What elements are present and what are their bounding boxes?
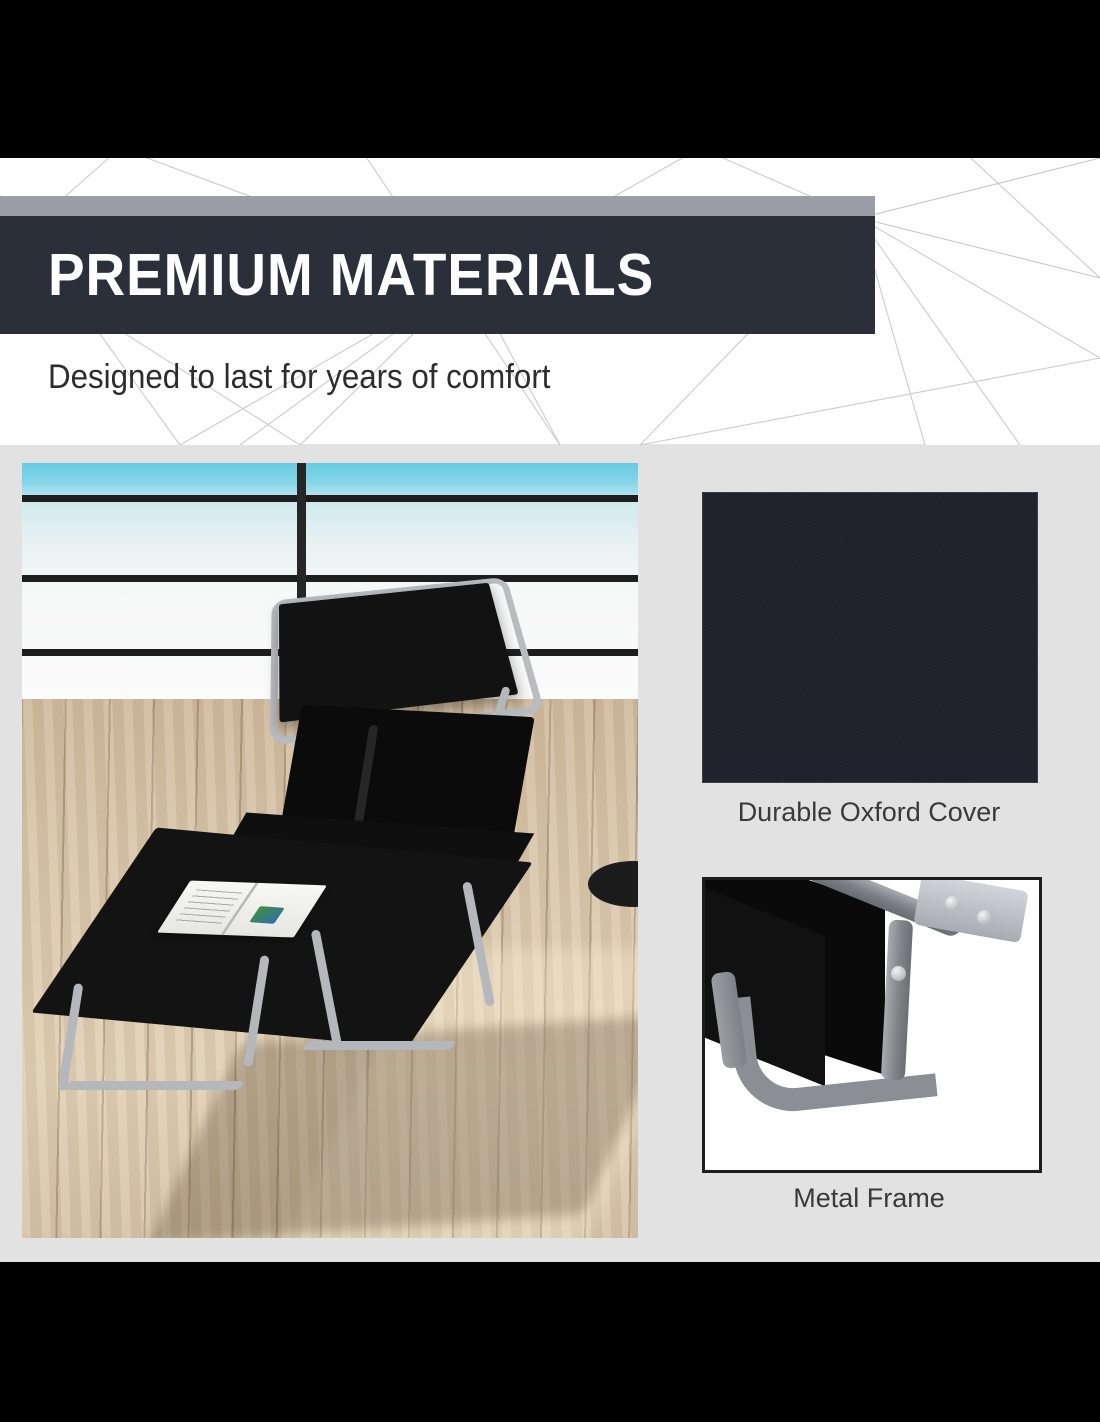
frame-hinge-bracket [913,877,1028,943]
product-infographic-page: PREMIUM MATERIALS Designed to last for y… [0,0,1100,1422]
lounger-foot-mid [301,1041,457,1050]
page-title: PREMIUM MATERIALS [48,246,654,305]
deck-object-disc [588,861,638,907]
frame-rivet-2 [977,910,992,925]
main-product-photo [22,463,638,1238]
lounger-seat [31,828,532,1048]
letterbox-bottom [0,1262,1100,1422]
page-subtitle: Designed to last for years of comfort [48,358,550,397]
detail-panel-metal-frame [702,877,1042,1173]
oxford-fabric-texture [703,493,1037,782]
lounger-foot-front [63,1081,245,1090]
frame-rivet-1 [945,896,960,911]
frame-rivet-3 [891,966,906,981]
detail-caption-oxford-cover: Durable Oxford Cover [702,797,1036,828]
detail-panel-oxford-cover [702,492,1038,783]
content-stage: Durable Oxford Cover Metal Frame [0,445,1100,1262]
detail-caption-metal-frame: Metal Frame [702,1183,1036,1214]
title-banner: PREMIUM MATERIALS [0,216,875,334]
header-section: PREMIUM MATERIALS Designed to last for y… [0,158,1100,445]
sun-lounger [22,463,638,1238]
letterbox-top [0,0,1100,158]
